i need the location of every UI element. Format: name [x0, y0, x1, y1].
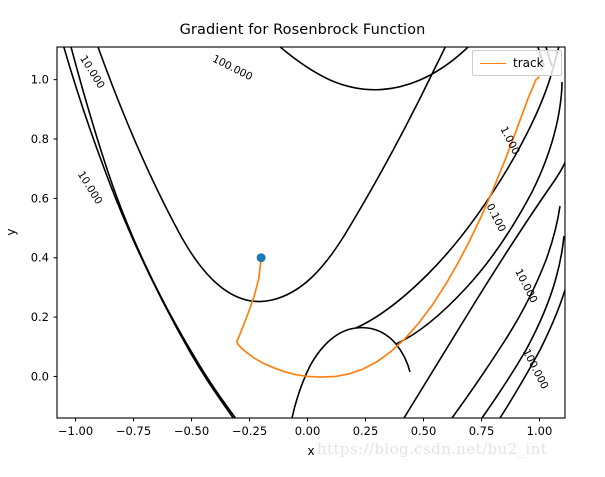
x-tick-label: −1.00 — [58, 424, 93, 438]
x-tick-label: 0.50 — [411, 424, 437, 438]
x-tick-label: 0.75 — [469, 424, 495, 438]
start-point-marker — [257, 253, 266, 262]
plot-background — [57, 47, 565, 418]
x-tick-label: −0.75 — [116, 424, 151, 438]
y-tick-label: 0.6 — [31, 191, 49, 205]
x-tick-label: 1.00 — [527, 424, 553, 438]
y-axis-ticks: 0.00.20.40.60.81.0 — [31, 73, 57, 384]
x-tick-label: 0.00 — [295, 424, 321, 438]
x-tick-label: −0.50 — [174, 424, 209, 438]
y-tick-label: 1.0 — [31, 73, 49, 87]
y-tick-label: 0.4 — [31, 251, 49, 265]
legend-label-track: track — [513, 56, 544, 70]
x-axis-ticks: −1.00−0.75−0.50−0.250.000.250.500.751.00 — [58, 418, 552, 438]
x-tick-label: 0.25 — [353, 424, 379, 438]
legend-swatch-track — [480, 63, 506, 64]
y-tick-label: 0.8 — [31, 132, 49, 146]
matplotlib-figure: Gradient for Rosenbrock Function — [0, 0, 605, 477]
watermark-text: https://blog.csdn.net/bu2_int — [317, 440, 547, 458]
x-axis-label: x — [307, 444, 314, 458]
y-axis-label: y — [4, 228, 18, 235]
y-tick-label: 0.0 — [31, 369, 49, 383]
x-tick-label: −0.25 — [232, 424, 267, 438]
y-tick-label: 0.2 — [31, 310, 49, 324]
legend[interactable]: track — [472, 50, 562, 76]
